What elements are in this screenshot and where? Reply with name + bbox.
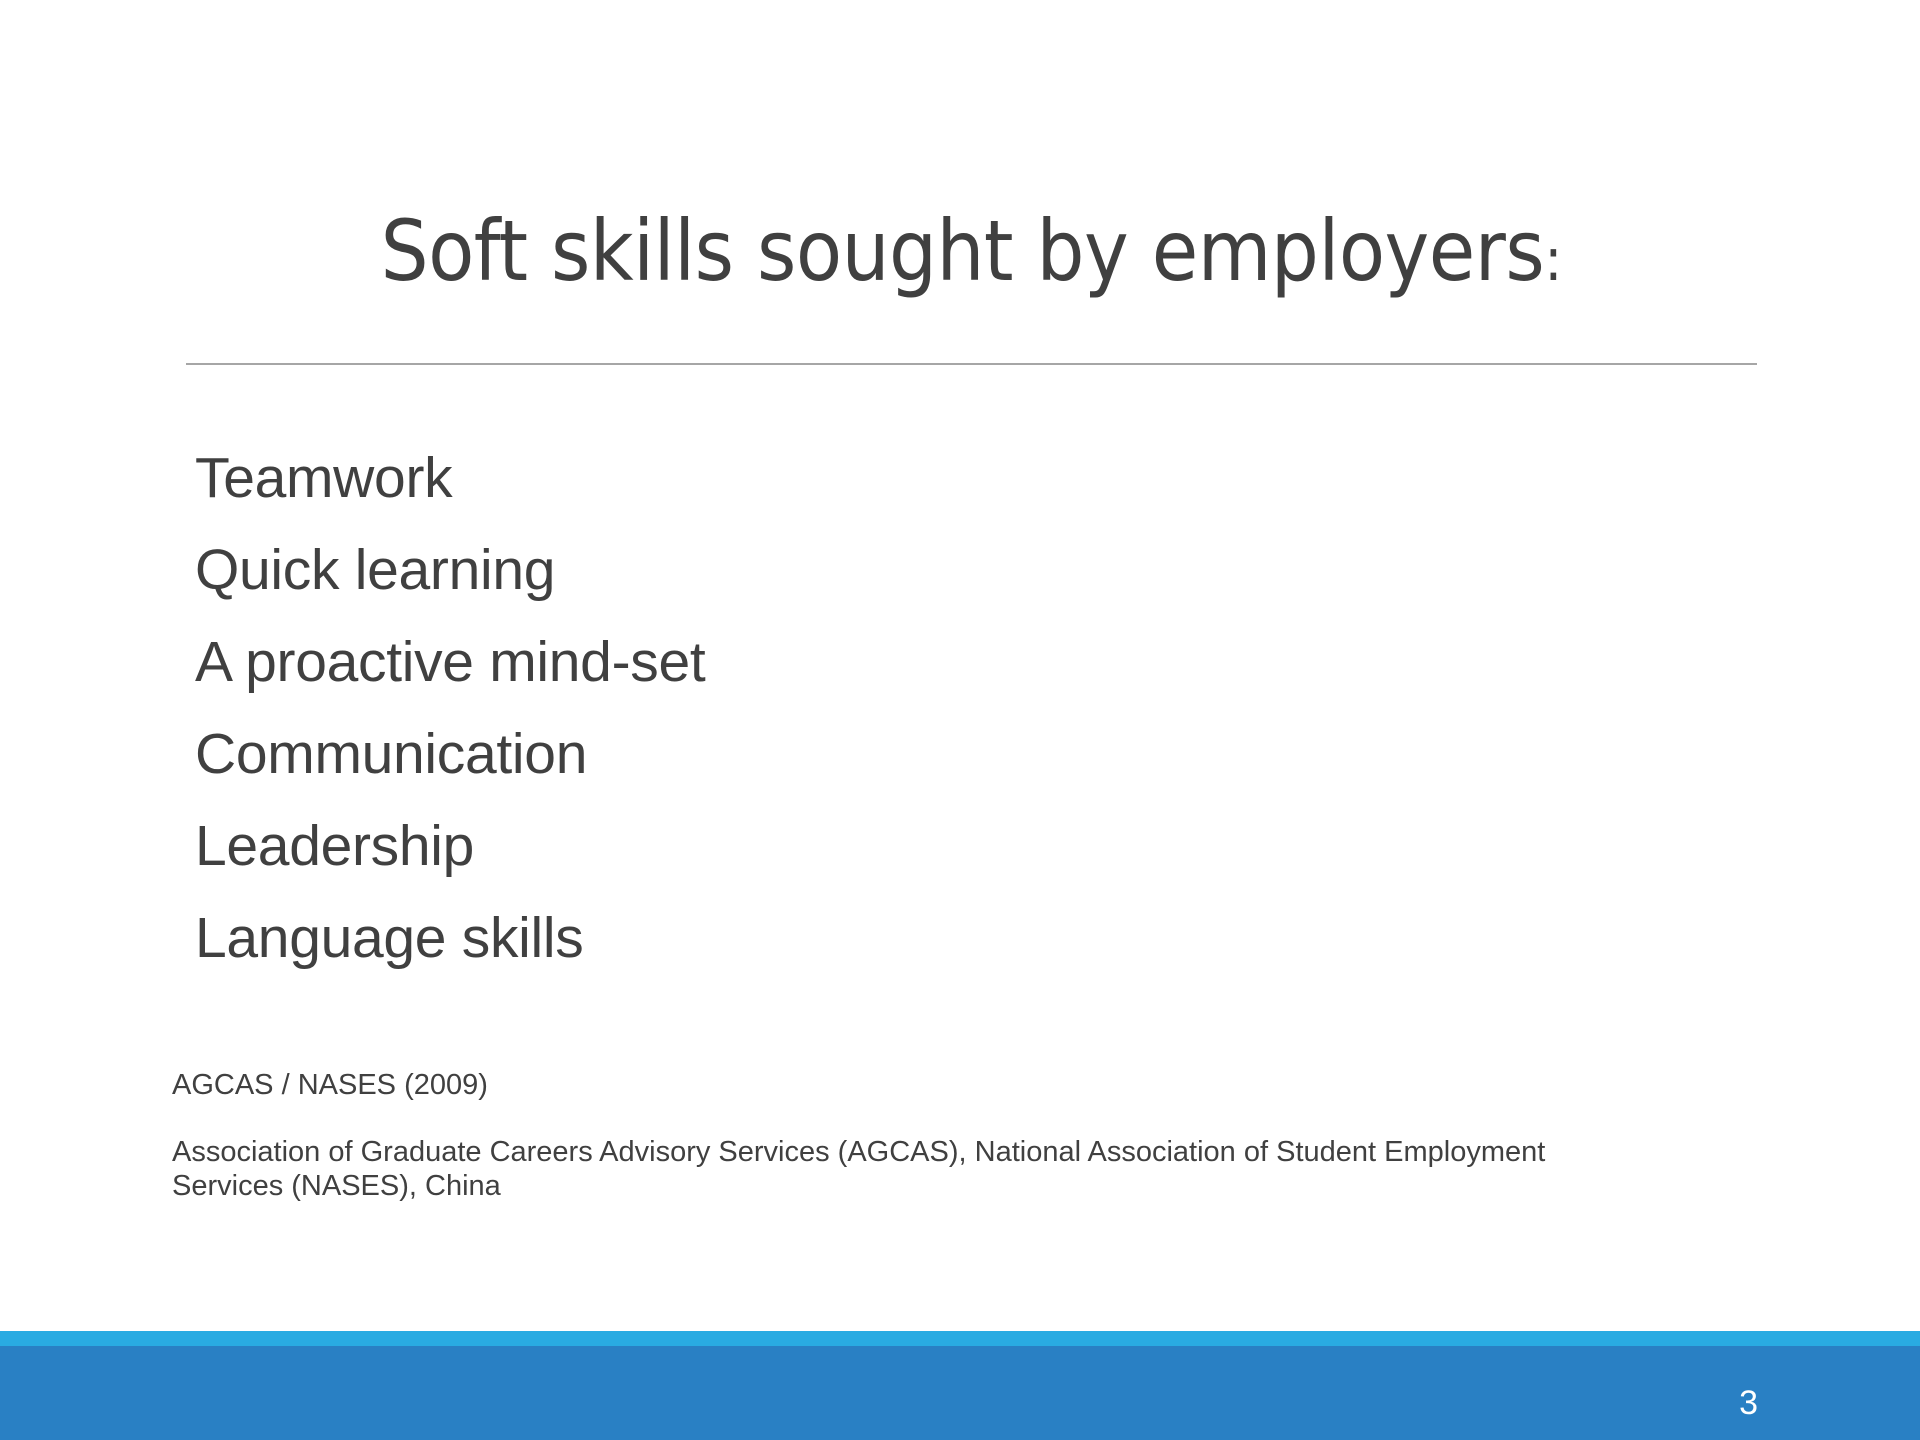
list-item: Leadership <box>195 800 1695 892</box>
skills-list: Teamwork Quick learning A proactive mind… <box>195 432 1695 984</box>
title-divider <box>186 363 1757 365</box>
page-title-colon: : <box>1544 225 1562 295</box>
list-item: Communication <box>195 708 1695 800</box>
title-block: Soft skills sought by employers: <box>186 150 1757 353</box>
footer-accent-stripe <box>0 1331 1920 1346</box>
page-number: 3 <box>1739 1386 1758 1420</box>
citation-source: AGCAS / NASES (2009) <box>172 1068 488 1103</box>
footer-band <box>0 1346 1920 1440</box>
list-item: Language skills <box>195 892 1695 984</box>
list-item: Teamwork <box>195 432 1695 524</box>
citation-footnote: Association of Graduate Careers Advisory… <box>172 1135 1602 1203</box>
slide: Soft skills sought by employers: Teamwor… <box>0 0 1920 1440</box>
list-item: A proactive mind-set <box>195 616 1695 708</box>
page-title: Soft skills sought by employers: <box>381 206 1563 297</box>
list-item: Quick learning <box>195 524 1695 616</box>
page-title-text: Soft skills sought by employers <box>381 202 1545 300</box>
